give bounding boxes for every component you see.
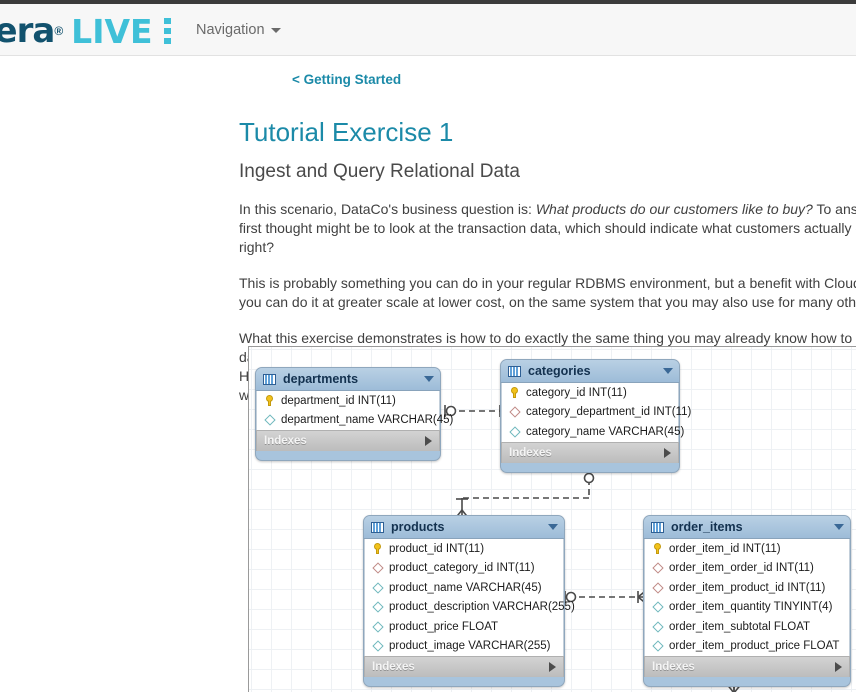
indexes-label: Indexes bbox=[652, 661, 835, 673]
table-columns: order_item_id INT(11) order_item_order_i… bbox=[644, 539, 850, 656]
column-label: order_item_subtotal FLOAT bbox=[669, 621, 810, 633]
page-subtitle: Ingest and Query Relational Data bbox=[239, 161, 856, 183]
top-navbar: udera® LIVE Navigation bbox=[0, 0, 856, 56]
navigation-dropdown[interactable]: Navigation bbox=[196, 22, 281, 38]
column-label: order_item_quantity TINYINT(4) bbox=[669, 601, 832, 613]
column-row[interactable]: order_item_quantity TINYINT(4) bbox=[645, 598, 849, 618]
primary-key-icon bbox=[371, 543, 384, 554]
foreign-key-icon bbox=[508, 408, 521, 416]
column-label: product_price FLOAT bbox=[389, 621, 498, 633]
table-departments[interactable]: departments department_id INT(11) depart… bbox=[255, 367, 441, 461]
column-label: product_category_id INT(11) bbox=[389, 562, 535, 574]
table-icon bbox=[263, 374, 276, 385]
indexes-section[interactable]: Indexes bbox=[364, 656, 564, 677]
navigation-label: Navigation bbox=[196, 22, 265, 38]
indexes-label: Indexes bbox=[372, 661, 549, 673]
column-icon bbox=[263, 416, 276, 424]
chevron-down-icon bbox=[271, 28, 281, 33]
chevron-down-icon[interactable] bbox=[548, 524, 558, 530]
page-title: Tutorial Exercise 1 bbox=[239, 117, 856, 148]
column-row[interactable]: category_name VARCHAR(45) bbox=[502, 422, 678, 442]
column-row[interactable]: product_name VARCHAR(45) bbox=[365, 578, 563, 598]
column-icon bbox=[371, 623, 384, 631]
table-columns: product_id INT(11) product_category_id I… bbox=[364, 539, 564, 656]
foreign-key-icon bbox=[651, 564, 664, 572]
column-label: category_name VARCHAR(45) bbox=[526, 426, 684, 438]
table-name: order_items bbox=[671, 520, 834, 534]
column-row[interactable]: product_id INT(11) bbox=[365, 539, 563, 559]
column-row[interactable]: order_item_subtotal FLOAT bbox=[645, 617, 849, 637]
column-label: order_item_id INT(11) bbox=[669, 543, 781, 555]
column-icon bbox=[371, 584, 384, 592]
column-row[interactable]: department_name VARCHAR(45) bbox=[257, 411, 439, 431]
chevron-right-icon[interactable] bbox=[664, 448, 671, 458]
cloudera-live-logo[interactable]: udera® LIVE bbox=[0, 13, 153, 49]
table-name: products bbox=[391, 520, 548, 534]
table-name: departments bbox=[283, 372, 424, 386]
primary-key-icon bbox=[651, 543, 664, 554]
primary-key-icon bbox=[263, 395, 276, 406]
chevron-down-icon[interactable] bbox=[834, 524, 844, 530]
brand-cloudera-text: udera bbox=[0, 11, 54, 51]
foreign-key-icon bbox=[371, 564, 384, 572]
table-categories[interactable]: categories category_id INT(11) category_… bbox=[500, 359, 680, 473]
column-row[interactable]: department_id INT(11) bbox=[257, 391, 439, 411]
column-label: order_item_product_id INT(11) bbox=[669, 582, 825, 594]
table-header[interactable]: departments bbox=[256, 368, 440, 391]
table-icon bbox=[508, 366, 521, 377]
column-row[interactable]: category_id INT(11) bbox=[502, 383, 678, 403]
column-icon bbox=[371, 603, 384, 611]
column-icon bbox=[651, 642, 664, 650]
indexes-section[interactable]: Indexes bbox=[256, 430, 440, 451]
chevron-right-icon[interactable] bbox=[835, 662, 842, 672]
indexes-section[interactable]: Indexes bbox=[644, 656, 850, 677]
column-row[interactable]: product_category_id INT(11) bbox=[365, 559, 563, 579]
paragraph-prefix: In this scenario, DataCo's business ques… bbox=[239, 201, 536, 217]
table-icon bbox=[371, 522, 384, 533]
table-header[interactable]: categories bbox=[501, 360, 679, 383]
chevron-right-icon[interactable] bbox=[425, 436, 432, 446]
table-name: categories bbox=[528, 364, 663, 378]
column-label: product_id INT(11) bbox=[389, 543, 484, 555]
column-label: department_name VARCHAR(45) bbox=[281, 414, 453, 426]
table-icon bbox=[651, 522, 664, 533]
column-row[interactable]: order_item_product_price FLOAT bbox=[645, 637, 849, 657]
table-header[interactable]: order_items bbox=[644, 516, 850, 539]
column-label: category_department_id INT(11) bbox=[526, 406, 691, 418]
table-header[interactable]: products bbox=[364, 516, 564, 539]
brand-registered-mark: ® bbox=[54, 24, 63, 38]
column-row[interactable]: product_description VARCHAR(255) bbox=[365, 598, 563, 618]
brand-accent-marks bbox=[164, 18, 171, 46]
column-row[interactable]: order_item_product_id INT(11) bbox=[645, 578, 849, 598]
column-icon bbox=[508, 428, 521, 436]
chevron-down-icon[interactable] bbox=[663, 368, 673, 374]
column-row[interactable]: product_image VARCHAR(255) bbox=[365, 637, 563, 657]
paragraph-prefix: This is probably something you can do in… bbox=[239, 275, 856, 310]
column-label: product_name VARCHAR(45) bbox=[389, 582, 542, 594]
page-root: udera® LIVE Navigation < Getting Started… bbox=[0, 0, 856, 692]
er-diagram[interactable]: departments department_id INT(11) depart… bbox=[248, 346, 856, 692]
column-icon bbox=[651, 623, 664, 631]
column-label: category_id INT(11) bbox=[526, 387, 627, 399]
indexes-section[interactable]: Indexes bbox=[501, 442, 679, 463]
table-products[interactable]: products product_id INT(11) product_cate… bbox=[363, 515, 565, 687]
column-row[interactable]: order_item_id INT(11) bbox=[645, 539, 849, 559]
indexes-label: Indexes bbox=[509, 447, 664, 459]
paragraph-rdbms: This is probably something you can do in… bbox=[239, 274, 856, 312]
indexes-label: Indexes bbox=[264, 435, 425, 447]
column-label: product_description VARCHAR(255) bbox=[389, 601, 575, 613]
table-columns: category_id INT(11) category_department_… bbox=[501, 383, 679, 442]
foreign-key-icon bbox=[651, 584, 664, 592]
column-icon bbox=[371, 642, 384, 650]
paragraph-emphasis: What products do our customers like to b… bbox=[536, 201, 813, 217]
column-label: order_item_product_price FLOAT bbox=[669, 640, 839, 652]
table-columns: department_id INT(11) department_name VA… bbox=[256, 391, 440, 430]
primary-key-icon bbox=[508, 387, 521, 398]
table-order-items[interactable]: order_items order_item_id INT(11) order_… bbox=[643, 515, 851, 687]
column-row[interactable]: order_item_order_id INT(11) bbox=[645, 559, 849, 579]
column-label: product_image VARCHAR(255) bbox=[389, 640, 551, 652]
column-row[interactable]: category_department_id INT(11) bbox=[502, 403, 678, 423]
paragraph-scenario: In this scenario, DataCo's business ques… bbox=[239, 200, 856, 257]
column-label: order_item_order_id INT(11) bbox=[669, 562, 814, 574]
back-to-getting-started-link[interactable]: < Getting Started bbox=[292, 72, 401, 87]
column-label: department_id INT(11) bbox=[281, 395, 396, 407]
chevron-right-icon[interactable] bbox=[549, 662, 556, 672]
chevron-down-icon[interactable] bbox=[424, 376, 434, 382]
column-row[interactable]: product_price FLOAT bbox=[365, 617, 563, 637]
column-icon bbox=[651, 603, 664, 611]
brand-live-text: LIVE bbox=[71, 12, 152, 51]
